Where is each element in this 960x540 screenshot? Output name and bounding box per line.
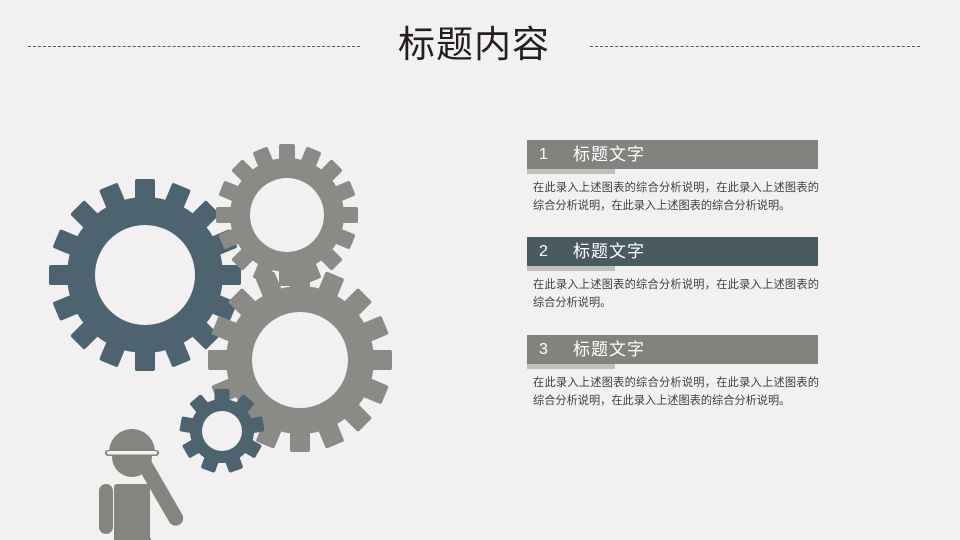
content-block-index: 2 bbox=[539, 244, 573, 260]
content-block-title: 标题文字 bbox=[573, 340, 645, 359]
title-divider-right bbox=[590, 46, 920, 47]
content-block-header[interactable]: 2 标题文字 bbox=[527, 237, 818, 266]
gears-and-worker-illustration bbox=[0, 60, 480, 540]
content-block-body: 在此录入上述图表的综合分析说明，在此录入上述图表的综合分析说明，在此录入上述图表… bbox=[527, 180, 819, 215]
content-block: 2 标题文字 在此录入上述图表的综合分析说明，在此录入上述图表的综合分析说明。 bbox=[527, 237, 827, 312]
content-block-header[interactable]: 1 标题文字 bbox=[527, 140, 818, 169]
content-block-list: 1 标题文字 在此录入上述图表的综合分析说明，在此录入上述图表的综合分析说明，在… bbox=[527, 140, 827, 410]
worker-figure-icon bbox=[99, 429, 186, 540]
content-block: 3 标题文字 在此录入上述图表的综合分析说明，在此录入上述图表的综合分析说明，在… bbox=[527, 335, 827, 410]
content-block-index: 3 bbox=[539, 342, 573, 358]
gear-large-blue-icon bbox=[49, 179, 241, 371]
content-block-header[interactable]: 3 标题文字 bbox=[527, 335, 818, 364]
content-block-body: 在此录入上述图表的综合分析说明，在此录入上述图表的综合分析说明。 bbox=[527, 277, 819, 312]
gear-small-blue-icon bbox=[179, 389, 264, 473]
content-block-body: 在此录入上述图表的综合分析说明，在此录入上述图表的综合分析说明，在此录入上述图表… bbox=[527, 375, 819, 410]
content-block-title: 标题文字 bbox=[573, 145, 645, 164]
gear-top-gray-icon bbox=[216, 144, 358, 286]
content-block: 1 标题文字 在此录入上述图表的综合分析说明，在此录入上述图表的综合分析说明，在… bbox=[527, 140, 827, 215]
content-block-index: 1 bbox=[539, 147, 573, 163]
content-block-title: 标题文字 bbox=[573, 242, 645, 261]
title-divider-left bbox=[28, 46, 360, 47]
